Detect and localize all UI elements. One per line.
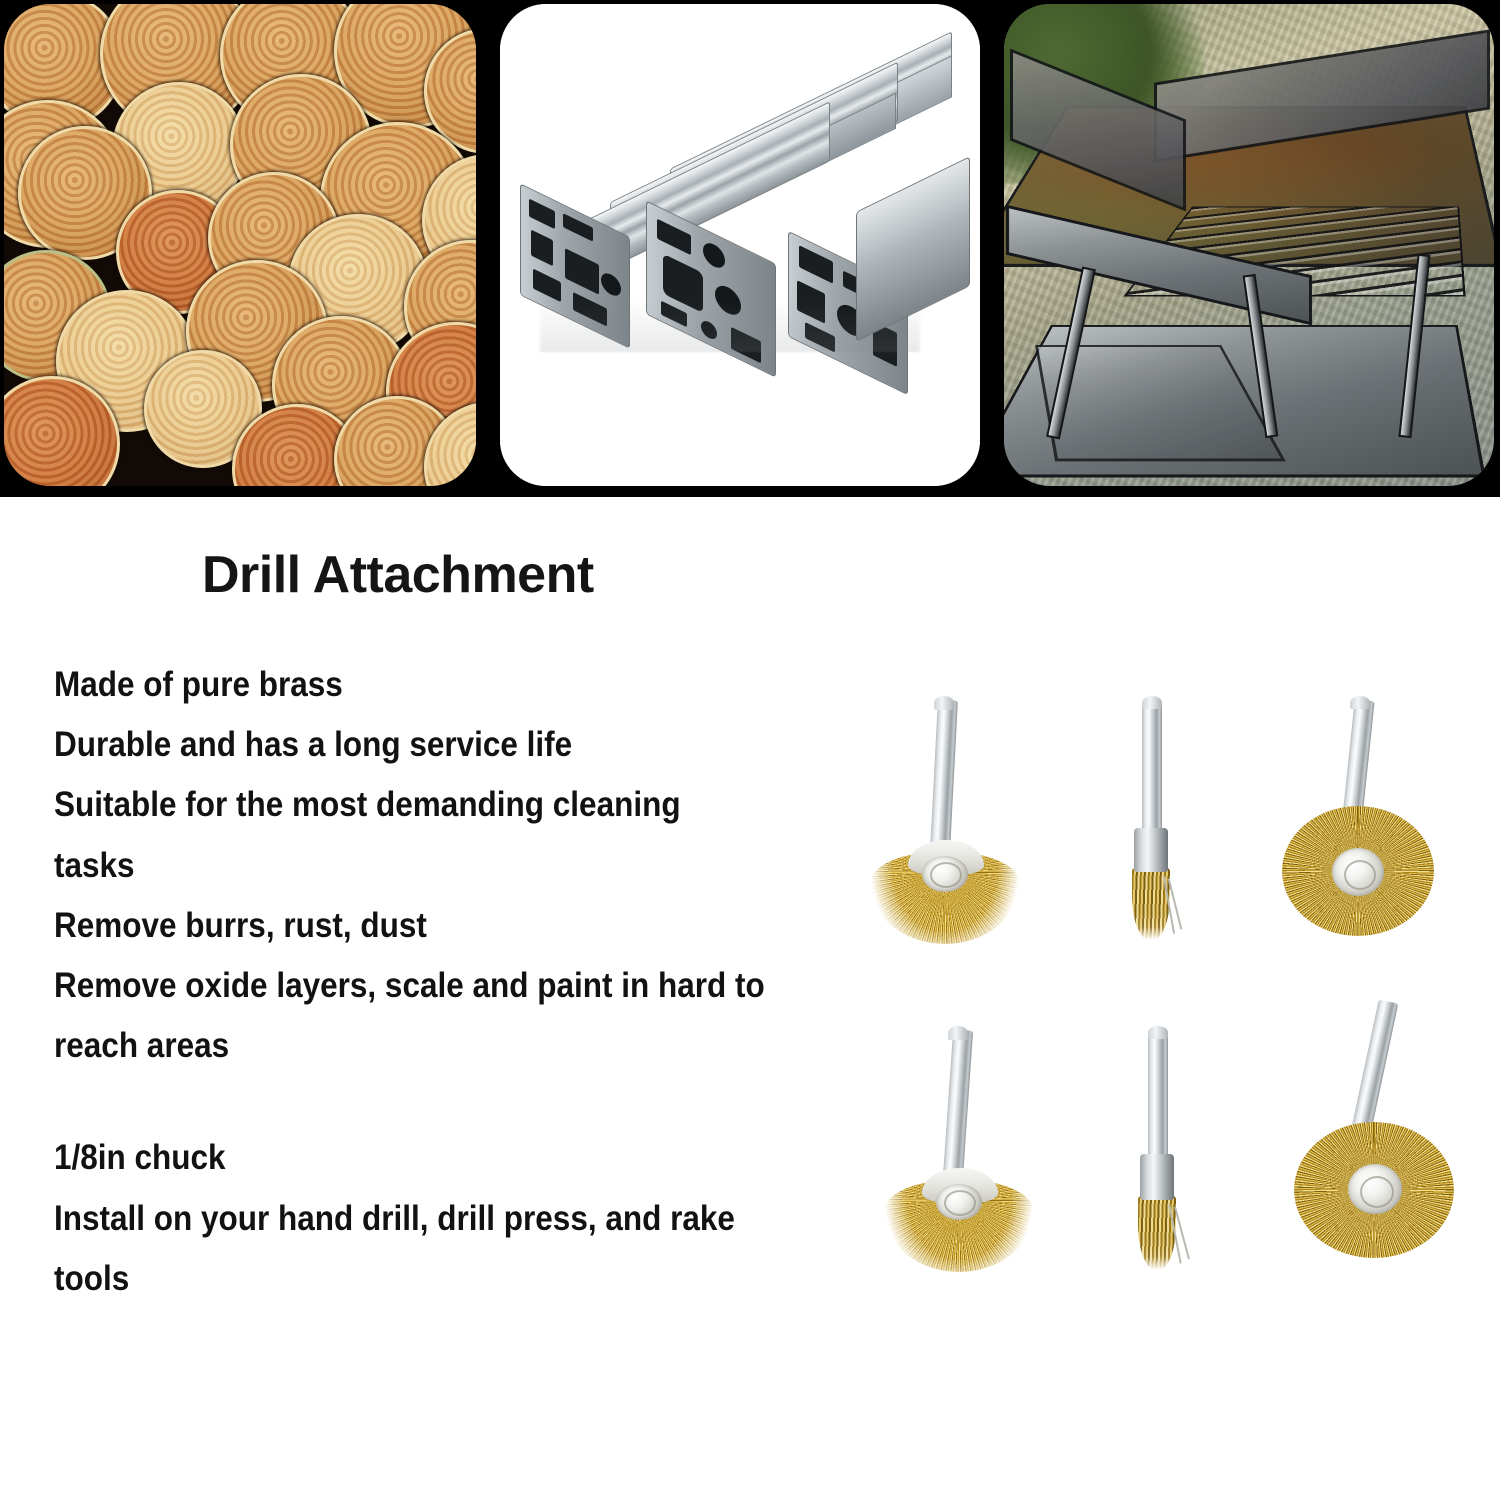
brush-shank-tip [1350, 696, 1370, 709]
feature-line: tasks [54, 836, 801, 896]
brush-shank [930, 700, 958, 851]
aluminum-extrusion-image [500, 4, 980, 486]
brush-ferrule [1134, 828, 1168, 872]
feature-line-secondary: tools [54, 1249, 801, 1309]
brush-hub-ring [944, 1190, 976, 1216]
feature-line-secondary: Install on your hand drill, drill press,… [54, 1189, 801, 1249]
feature-line: Made of pure brass [54, 655, 801, 715]
brush-hub-ring [930, 862, 962, 888]
panel-divider-2 [986, 0, 998, 497]
rusty-bbq-grill-image [1004, 4, 1494, 486]
brush-shank-tip [1142, 696, 1162, 709]
brush-shank-tip [934, 696, 954, 710]
extrusion-scene [500, 4, 980, 486]
panel-divider-1 [480, 0, 494, 497]
brush-shank-tip [1148, 1026, 1168, 1039]
brush-hub-ring [1344, 860, 1376, 890]
stacked-logs-image [4, 4, 476, 486]
feature-line: Suitable for the most demanding cleaning [54, 775, 801, 835]
extrusion-reflection [540, 298, 920, 352]
feature-line-secondary: 1/8in chuck [54, 1128, 801, 1188]
photo-panel-aluminum-extrusion [494, 0, 986, 497]
brush-shank-tip [948, 1026, 968, 1040]
brush-shank [943, 1029, 973, 1178]
feature-list: Made of pure brass Durable and has a lon… [54, 655, 884, 1309]
feature-line: Durable and has a long service life [54, 715, 801, 775]
photo-panel-stacked-logs [0, 0, 480, 497]
brush-shank [1142, 700, 1162, 838]
feature-list-spacer [54, 1076, 884, 1128]
feature-line: Remove burrs, rust, dust [54, 896, 801, 956]
brass-end-brush-top-middle [1120, 700, 1240, 950]
page-title: Drill Attachment [202, 545, 594, 605]
brass-end-brush-bottom-middle [1126, 1030, 1246, 1280]
feature-line: Remove oxide layers, scale and paint in … [54, 956, 801, 1016]
brass-wheel-brush-top-right [1270, 700, 1480, 950]
brass-cup-brush-top-left [860, 700, 1060, 950]
brass-wheel-brush-bottom-right [1282, 1040, 1492, 1290]
brush-shank [1350, 999, 1399, 1140]
brass-cup-brush-bottom-left [876, 1030, 1076, 1280]
brush-ferrule [1140, 1154, 1174, 1200]
feature-line: reach areas [54, 1016, 801, 1076]
brush-shank [1148, 1030, 1168, 1164]
brush-hub-ring [1360, 1176, 1394, 1208]
photo-panel-rusty-bbq-grill [998, 0, 1500, 497]
product-photo-strip [0, 0, 1500, 497]
